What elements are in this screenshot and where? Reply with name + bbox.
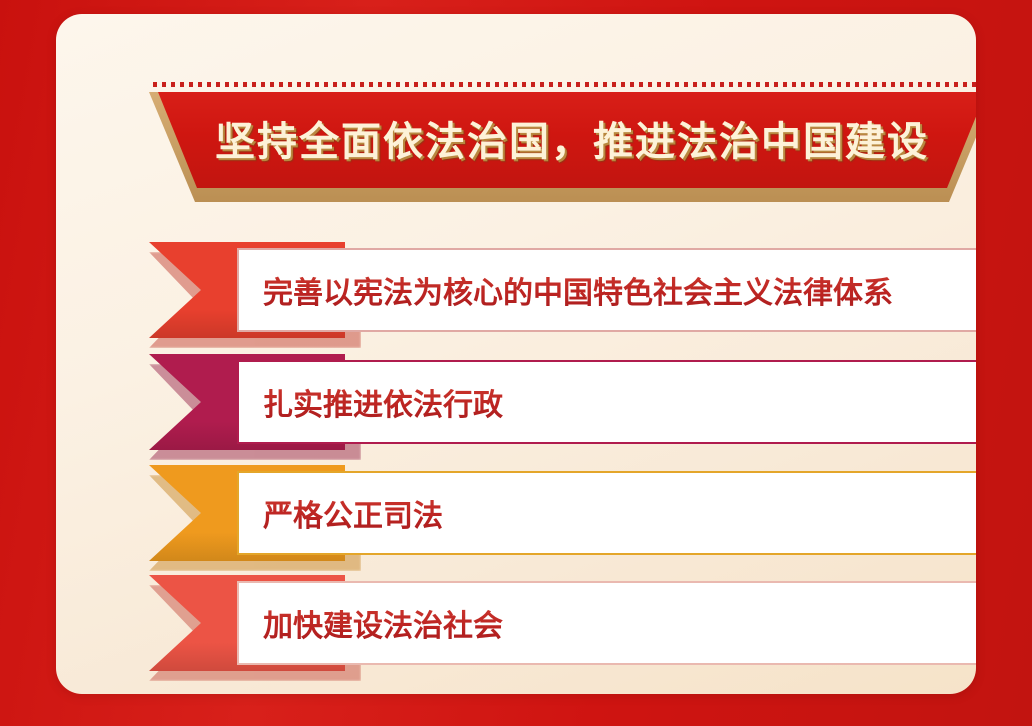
list-item[interactable]: 四 加快建设法治社会 — [149, 575, 976, 671]
item-card[interactable]: 完善以宪法为核心的中国特色社会主义法律体系 — [237, 248, 976, 332]
list-item[interactable]: 二 扎实推进依法行政 — [149, 354, 976, 450]
item-card[interactable]: 严格公正司法 — [237, 471, 976, 555]
title-banner: 坚持全面依法治国，推进法治中国建设 — [149, 92, 976, 204]
list-item[interactable]: 三 严格公正司法 — [149, 465, 976, 561]
item-text: 严格公正司法 — [239, 491, 443, 535]
item-card[interactable]: 扎实推进依法行政 — [237, 360, 976, 444]
poster-root: 坚持全面依法治国，推进法治中国建设 一 完善以宪法为核心的中国特色社会主义法律体… — [0, 0, 1032, 726]
item-text: 扎实推进依法行政 — [239, 380, 503, 424]
item-text: 加快建设法治社会 — [239, 601, 503, 645]
item-card[interactable]: 加快建设法治社会 — [237, 581, 976, 665]
item-text: 完善以宪法为核心的中国特色社会主义法律体系 — [239, 268, 893, 312]
page-title: 坚持全面依法治国，推进法治中国建设 — [215, 109, 929, 171]
dotted-divider — [153, 82, 976, 87]
content-panel: 坚持全面依法治国，推进法治中国建设 一 完善以宪法为核心的中国特色社会主义法律体… — [56, 14, 976, 694]
list-item[interactable]: 一 完善以宪法为核心的中国特色社会主义法律体系 — [149, 242, 976, 338]
title-red-plate: 坚持全面依法治国，推进法治中国建设 — [158, 92, 976, 188]
